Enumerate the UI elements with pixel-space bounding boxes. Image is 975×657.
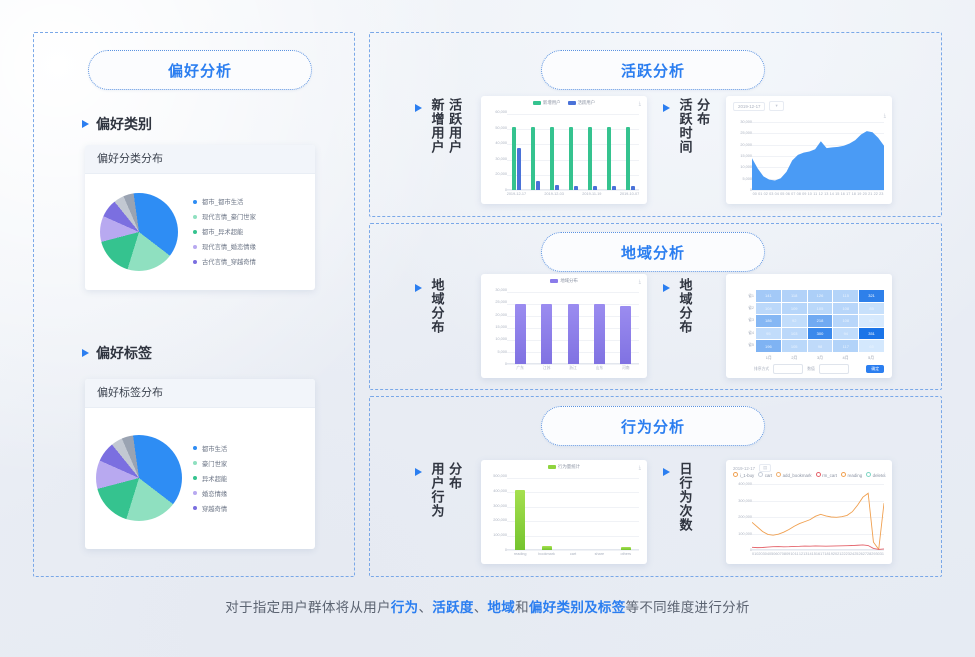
- heatmap-cell[interactable]: 95: [756, 328, 781, 340]
- triangle-bullet-icon: [663, 104, 670, 112]
- download-icon[interactable]: ⤓: [884, 472, 886, 478]
- calendar-icon[interactable]: ▤: [759, 464, 771, 472]
- y-axis-tick: 60,000: [495, 110, 507, 114]
- heatmap-x-label: 4月: [843, 355, 849, 361]
- x-axis-tick: 17: [846, 192, 850, 196]
- x-axis: 广东江苏浙江山东河南: [507, 366, 639, 375]
- section-heading-preference-category: 偏好类别: [82, 114, 152, 134]
- heatmap-x-label: 3月: [817, 355, 823, 361]
- triangle-bullet-icon: [663, 468, 670, 476]
- legend-label: 都市_都市生活: [202, 197, 243, 206]
- legend-item: 都市_都市生活: [193, 197, 309, 206]
- heatmap-x-label: 5月: [868, 355, 874, 361]
- legend-color-dot: [193, 461, 197, 465]
- legend-item: 婚恋情缘: [193, 489, 309, 498]
- bar: [568, 304, 579, 364]
- caption-part-5: 等不同维度进行分析: [626, 600, 750, 615]
- heatmap-y-labels: 省1省2省3省4省5: [732, 290, 754, 352]
- heatmap-cell[interactable]: 115: [833, 290, 858, 302]
- caption-part-4: 和: [515, 600, 529, 615]
- legend-entry-active-users: 活跃用户: [568, 100, 596, 106]
- legend-color-dot: [193, 260, 197, 264]
- heatmap-cell[interactable]: 108: [833, 303, 858, 315]
- x-axis-tick: 08: [797, 192, 801, 196]
- chart-new-active-users: 新增用户 活跃用户 ⤓ 60,00050,00040,00030,00020,0…: [481, 96, 647, 204]
- area-series: [752, 122, 884, 190]
- legend-entry[interactable]: add_bookmark: [776, 472, 812, 478]
- pie-chart-preference-category: [100, 193, 178, 271]
- row-label-b: 分布: [446, 462, 464, 514]
- y-axis-tick: 20,000: [495, 172, 507, 176]
- infographic-root: 偏好分析 活跃分析 地域分析 行为分析 偏好类别 偏好分类分布 都市_都市生活现…: [0, 0, 975, 657]
- heatmap-x-label: 1月: [766, 355, 772, 361]
- legend-entry-new-users: 新增用户: [533, 100, 561, 106]
- card-preference-category-distribution: 偏好分类分布 都市_都市生活现代言情_豪门世家都市_异术超能现代言情_婚恋情缘古…: [85, 145, 315, 290]
- y-axis: 60,00050,00040,00030,00020,0000: [483, 112, 507, 190]
- x-axis-tick: 广东: [516, 366, 524, 371]
- y-axis-tick: 40,000: [495, 141, 507, 145]
- y-axis-tick: 30,000: [495, 157, 507, 161]
- download-icon[interactable]: ⤓: [884, 113, 886, 119]
- dropdown-filter[interactable]: ▾: [769, 101, 783, 111]
- row-label-b: 分布: [694, 98, 712, 150]
- triangle-bullet-icon: [663, 284, 670, 292]
- legend-label: 婚恋情缘: [202, 489, 227, 498]
- bar: [626, 127, 630, 190]
- bar: [620, 306, 631, 364]
- y-axis: 500,000400,000300,000200,000100,0000: [483, 476, 507, 550]
- legend-item: 穿越奇情: [193, 504, 309, 513]
- x-axis: 0001020304050607080910111213141516171819…: [752, 192, 884, 201]
- chart-legend: i_1-buycartadd_bookmarkrm_cartreadingdel…: [726, 472, 892, 478]
- chart-legend: 地域分布: [481, 278, 647, 284]
- x-axis-tick: bookmark: [538, 552, 555, 556]
- legend-item: 现代言情_婚恋情缘: [193, 242, 309, 251]
- y-axis-tick: 400,000: [738, 482, 752, 486]
- triangle-bullet-icon: [415, 284, 422, 292]
- heatmap-cell[interactable]: 62: [859, 315, 884, 327]
- bar: [574, 186, 578, 190]
- row-label-a: 用户行为: [428, 462, 446, 534]
- heatmap-x-label: 2月: [791, 355, 797, 361]
- pill-title-preference: 偏好分析: [88, 50, 312, 90]
- heatmap-cell[interactable]: 218: [808, 315, 833, 327]
- heatmap-y-label: 省2: [732, 306, 754, 311]
- x-axis-tick: 2019-10-07: [620, 192, 639, 196]
- plot-area: [752, 484, 884, 550]
- section-heading-preference-tag: 偏好标签: [82, 343, 152, 363]
- caption-part-3: 、: [474, 600, 488, 615]
- card-preference-tag-distribution: 偏好标签分布 都市生活豪门世家异术超能婚恋情缘穿越奇情: [85, 379, 315, 549]
- download-icon[interactable]: ⤓: [639, 279, 641, 285]
- row-label-active-time: 活跃时间 分布: [663, 98, 711, 170]
- caption-part-1: 对于指定用户群体将从用户: [225, 600, 391, 615]
- heatmap-y-label: 省3: [732, 318, 754, 323]
- legend-item: 异术超能: [193, 474, 309, 483]
- legend-item: 古代言情_穿越奇情: [193, 257, 309, 266]
- legend-label: 都市生活: [202, 444, 227, 453]
- chart-region-heatmap: 省1省2省3省4省5 14111812611532110410910510885…: [726, 274, 892, 378]
- x-axis-tick: 浙江: [569, 366, 577, 371]
- x-axis-tick: 11: [813, 192, 817, 196]
- legend-color-dot: [193, 215, 197, 219]
- row-label-a: 地域分布: [676, 278, 694, 354]
- caption-part-2: 、: [418, 600, 432, 615]
- heatmap-cell[interactable]: 105: [808, 303, 833, 315]
- pill-title-region: 地域分析: [541, 232, 765, 272]
- bar: [607, 127, 611, 190]
- y-axis-tick: 50,000: [495, 126, 507, 130]
- y-axis: 30,00025,00020,00015,00010,0005,0000: [728, 122, 752, 190]
- y-axis-tick: 100,000: [493, 533, 507, 537]
- y-axis-tick: 10,000: [495, 337, 507, 341]
- x-axis-tick: 02: [764, 192, 768, 196]
- y-axis-tick: 30,000: [495, 288, 507, 292]
- y-axis: 400,000300,000200,000100,0000: [728, 484, 752, 550]
- y-axis-tick: 5,000: [742, 177, 752, 181]
- pie-chart-preference-tag: [96, 435, 182, 521]
- value-select[interactable]: [819, 364, 849, 374]
- heatmap-x-labels: 1月2月3月4月5月: [756, 355, 884, 361]
- bar: [621, 547, 631, 550]
- caption-keyword-behavior: 行为: [391, 600, 419, 615]
- bar: [594, 304, 605, 364]
- x-axis-tick: 15: [835, 192, 839, 196]
- heatmap-cell[interactable]: 85: [859, 303, 884, 315]
- x-axis-tick: 河南: [622, 366, 630, 371]
- x-axis-tick: 2019-12-03: [544, 192, 563, 196]
- x-axis-tick: 18: [852, 192, 856, 196]
- row-label-a: 日行为次数: [676, 462, 694, 554]
- y-axis-tick: 30,000: [740, 120, 752, 124]
- row-label-new-active-users: 新增用户 活跃用户: [415, 98, 463, 170]
- x-axis-tick: 06: [786, 192, 790, 196]
- legend-entry-region: 地域分布: [550, 278, 578, 284]
- plot-area: [752, 122, 884, 190]
- row-label-b: 活跃用户: [446, 98, 464, 170]
- bar: [517, 148, 521, 190]
- x-axis: 0102030405060708091011121314151617181920…: [752, 552, 884, 561]
- heatmap-cell[interactable]: 196: [756, 340, 781, 352]
- legend-color-dot: [193, 476, 197, 480]
- y-axis-tick: 20,000: [495, 313, 507, 317]
- y-axis-tick: 300,000: [493, 504, 507, 508]
- triangle-bullet-icon: [415, 468, 422, 476]
- triangle-bullet-icon: [415, 104, 422, 112]
- legend-entry[interactable]: rm_cart: [816, 472, 837, 478]
- pie-chart-wrapper: [85, 407, 193, 549]
- sort-select[interactable]: [773, 364, 803, 374]
- line-series: [752, 493, 884, 549]
- row-label-a: 地域分布: [428, 278, 446, 354]
- x-axis-tick: 19: [857, 192, 861, 196]
- bar: [531, 127, 535, 190]
- y-axis-tick: 10,000: [740, 165, 752, 169]
- line-series-group: [752, 484, 884, 550]
- sort-label: 排序方式: [754, 367, 769, 372]
- y-axis-tick: 500,000: [493, 474, 507, 478]
- chart-region-distribution-bar: 地域分布 ⤓ 30,00025,00020,00015,00010,0005,0…: [481, 274, 647, 378]
- y-axis-tick: 300,000: [738, 499, 752, 503]
- x-axis-tick: 09: [802, 192, 806, 196]
- legend-label: 穿越奇情: [202, 504, 227, 513]
- row-label-region-distribution-bar: 地域分布: [415, 278, 446, 354]
- heatmap-cell[interactable]: 92: [782, 315, 807, 327]
- y-axis-tick: 5,000: [497, 350, 507, 354]
- heatmap-cell[interactable]: 105: [782, 340, 807, 352]
- legend-entry[interactable]: delete: [866, 472, 884, 478]
- heatmap-cell[interactable]: 351: [859, 328, 884, 340]
- pie-legend-preference-category: 都市_都市生活现代言情_豪门世家都市_异术超能现代言情_婚恋情缘古代言情_穿越奇…: [193, 173, 315, 290]
- date-filter-input[interactable]: 2019-12-17: [733, 466, 755, 471]
- chart-daily-behavior-count: 2019-12-17 ▤ i_1-buycartadd_bookmarkrm_c…: [726, 460, 892, 564]
- legend-label: 异术超能: [202, 474, 227, 483]
- heatmap-cell[interactable]: 103: [782, 328, 807, 340]
- x-axis-tick: share: [595, 552, 605, 556]
- x-axis-tick: others: [621, 552, 632, 556]
- chart-active-time-distribution: 2019-12-17 ▾ ⤓ 30,00025,00020,00015,0001…: [726, 96, 892, 204]
- row-label-daily-behavior: 日行为次数: [663, 462, 694, 554]
- legend-entry[interactable]: cart: [758, 472, 772, 478]
- line-series: [752, 545, 884, 549]
- heatmap-cell[interactable]: 186: [756, 315, 781, 327]
- legend-color-dot: [193, 245, 197, 249]
- confirm-button[interactable]: 确定: [866, 365, 884, 373]
- legend-item: 现代言情_豪门世家: [193, 212, 309, 221]
- x-axis-tick: 10: [808, 192, 812, 196]
- legend-color-dot: [193, 200, 197, 204]
- date-filter-input[interactable]: 2019-12-17: [733, 102, 765, 111]
- x-axis: 2019-12-172019-12-032019-11-192019-10-07: [507, 192, 639, 201]
- heatmap-cell[interactable]: 104: [756, 303, 781, 315]
- caption-keyword-region: 地域: [488, 600, 516, 615]
- bar: [515, 490, 525, 550]
- heatmap-cell[interactable]: 300: [808, 328, 833, 340]
- x-axis-tick: 2019-12-17: [507, 192, 526, 196]
- x-axis-tick: 2019-11-19: [582, 192, 601, 196]
- x-axis-tick: 31: [880, 552, 884, 556]
- y-axis-tick: 15,000: [740, 154, 752, 158]
- y-axis-tick: 200,000: [738, 515, 752, 519]
- chart-legend: 行为量统计: [481, 464, 647, 470]
- x-axis-tick: 05: [780, 192, 784, 196]
- legend-color-dot: [193, 491, 197, 495]
- x-axis-tick: 04: [775, 192, 779, 196]
- heatmap-cell[interactable]: 98: [808, 340, 833, 352]
- y-axis-tick: 15,000: [495, 325, 507, 329]
- x-axis-tick: reading: [514, 552, 527, 556]
- triangle-bullet-icon: [82, 349, 89, 357]
- legend-item: 都市生活: [193, 444, 309, 453]
- heatmap-y-label: 省1: [732, 294, 754, 299]
- caption-keyword-activity: 活跃度: [432, 600, 473, 615]
- card-title: 偏好标签分布: [85, 379, 315, 408]
- heatmap-cell[interactable]: 94: [833, 328, 858, 340]
- legend-entry-behavior: 行为量统计: [548, 464, 580, 470]
- x-axis-tick: 03: [769, 192, 773, 196]
- plot-area: [507, 292, 639, 364]
- y-axis-tick: 400,000: [493, 489, 507, 493]
- section-heading-label: 偏好标签: [96, 343, 152, 363]
- pill-title-behavior: 行为分析: [541, 406, 765, 446]
- bar: [588, 127, 592, 190]
- y-axis-tick: 20,000: [740, 143, 752, 147]
- legend-item: 都市_异术超能: [193, 227, 309, 236]
- chart-legend: 新增用户 活跃用户: [481, 100, 647, 106]
- x-axis-tick: 20: [863, 192, 867, 196]
- bar: [542, 546, 552, 550]
- x-axis-tick: 江苏: [543, 366, 551, 371]
- legend-label: 现代言情_婚恋情缘: [202, 242, 256, 251]
- heatmap-cell[interactable]: 118: [782, 290, 807, 302]
- y-axis-tick: 100,000: [738, 532, 752, 536]
- bar: [515, 304, 526, 364]
- plot-area: [507, 114, 639, 190]
- row-label-user-behavior: 用户行为 分布: [415, 462, 463, 534]
- x-axis-tick: 00: [753, 192, 757, 196]
- x-axis-tick: cart: [570, 552, 576, 556]
- x-axis-tick: 16: [841, 192, 845, 196]
- y-axis-tick: 25,000: [495, 300, 507, 304]
- bar: [593, 186, 597, 190]
- bar: [541, 304, 552, 364]
- card-title: 偏好分类分布: [85, 145, 315, 174]
- legend-entry[interactable]: reading: [841, 472, 862, 478]
- legend-label: 都市_异术超能: [202, 227, 243, 236]
- x-axis-tick: 07: [791, 192, 795, 196]
- legend-label: 现代言情_豪门世家: [202, 212, 256, 221]
- x-axis-tick: 23: [879, 192, 883, 196]
- x-axis-tick: 13: [824, 192, 828, 196]
- legend-color-dot: [193, 230, 197, 234]
- plot-area: [507, 478, 639, 550]
- heatmap-y-label: 省4: [732, 331, 754, 336]
- triangle-bullet-icon: [82, 120, 89, 128]
- x-axis-tick: 21: [868, 192, 872, 196]
- bar: [550, 127, 554, 190]
- heatmap-y-label: 省5: [732, 343, 754, 348]
- row-label-region-distribution-map: 地域分布: [663, 278, 694, 354]
- heatmap-cell[interactable]: 141: [756, 290, 781, 302]
- x-axis-tick: 12: [819, 192, 823, 196]
- bar: [569, 127, 573, 190]
- bar: [536, 181, 540, 190]
- pill-title-active: 活跃分析: [541, 50, 765, 90]
- heatmap-controls: 排序方式 数值 确定: [754, 364, 884, 374]
- heatmap-grid: 1411181261153211041091051088518692218108…: [756, 290, 884, 352]
- pie-legend-preference-tag: 都市生活豪门世家异术超能婚恋情缘穿越奇情: [193, 407, 315, 549]
- x-axis-tick: 01: [758, 192, 762, 196]
- y-axis-tick: 25,000: [740, 131, 752, 135]
- x-axis: readingbookmarkcartshareothers: [507, 552, 639, 561]
- legend-label: 豪门世家: [202, 459, 227, 468]
- caption-keyword-preference: 偏好类别及标签: [529, 600, 626, 615]
- heatmap-cell[interactable]: 65: [859, 340, 884, 352]
- y-axis-tick: 200,000: [493, 518, 507, 522]
- row-label-a: 新增用户: [428, 98, 446, 170]
- bar: [555, 185, 559, 190]
- legend-color-dot: [193, 446, 197, 450]
- bar: [612, 186, 616, 190]
- y-axis: 30,00025,00020,00015,00010,0005,0000: [483, 290, 507, 364]
- heatmap-cell[interactable]: 108: [833, 315, 858, 327]
- download-icon[interactable]: ⤓: [639, 101, 641, 107]
- chart-user-behavior-distribution: 行为量统计 ⤓ 500,000400,000300,000200,000100,…: [481, 460, 647, 564]
- row-label-a: 活跃时间: [676, 98, 694, 170]
- x-axis-tick: 14: [830, 192, 834, 196]
- x-axis-tick: 山东: [596, 366, 604, 371]
- heatmap-cell[interactable]: 321: [859, 290, 884, 302]
- heatmap-cell[interactable]: 109: [782, 303, 807, 315]
- value-label: 数值: [807, 367, 815, 372]
- legend-color-dot: [193, 506, 197, 510]
- heatmap-cell[interactable]: 126: [808, 290, 833, 302]
- legend-label: 古代言情_穿越奇情: [202, 257, 256, 266]
- legend-item: 豪门世家: [193, 459, 309, 468]
- legend-entry[interactable]: i_1-buy: [733, 472, 754, 478]
- bar: [512, 127, 516, 190]
- pie-chart-wrapper: [85, 173, 193, 290]
- x-axis-tick: 22: [874, 192, 878, 196]
- bar: [631, 186, 635, 190]
- page-caption: 对于指定用户群体将从用户行为、活跃度、地域和偏好类别及标签等不同维度进行分析: [0, 596, 975, 616]
- section-heading-label: 偏好类别: [96, 114, 152, 134]
- heatmap-cell[interactable]: 117: [833, 340, 858, 352]
- download-icon[interactable]: ⤓: [639, 465, 641, 471]
